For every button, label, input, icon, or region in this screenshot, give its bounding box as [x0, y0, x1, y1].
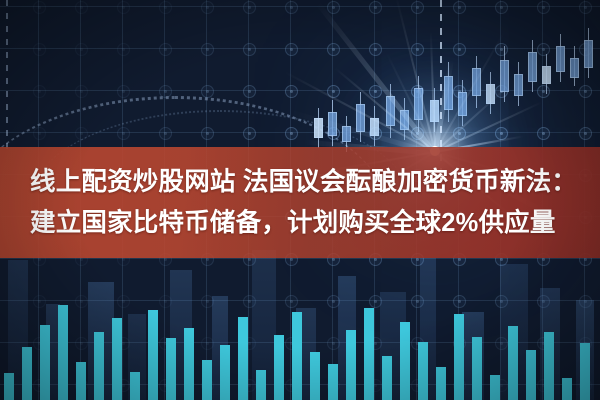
vignette-overlay [0, 0, 600, 400]
banner-image: 线上配资炒股网站 法国议会酝酿加密货币新法： 建立国家比特币储备，计划购买全球2… [0, 0, 600, 400]
